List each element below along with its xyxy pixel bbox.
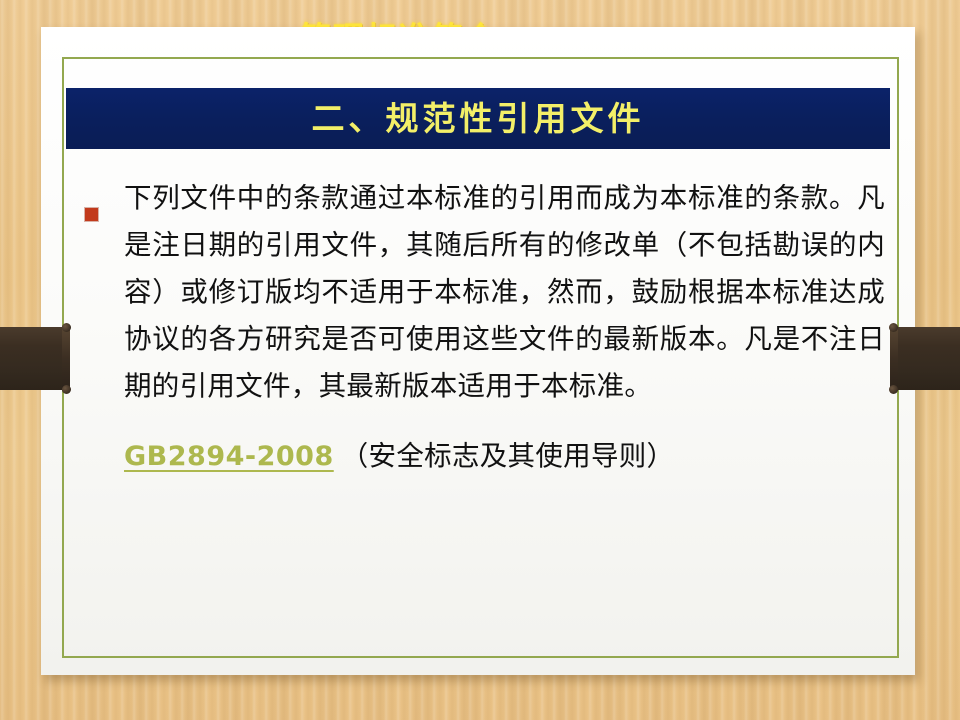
banner-title: 二、规范性引用文件	[312, 102, 645, 135]
slide-card: 二、规范性引用文件 下列文件中的条款通过本标准的引用而成为本标准的条款。凡是注日…	[41, 27, 915, 675]
clamp-knob-left-bottom	[62, 385, 71, 394]
bullet-square-icon	[85, 208, 98, 221]
slide-stage: 管理标准简介 二、规范性引用文件 下列文件中的条款通过本标准的引用而成为本标准的…	[0, 0, 960, 720]
bullet-paragraph: 下列文件中的条款通过本标准的引用而成为本标准的条款。凡是注日期的引用文件，其随后…	[85, 175, 885, 410]
reference-standard-link[interactable]: GB2894-2008	[124, 441, 334, 472]
decorative-clamp-left	[0, 327, 70, 390]
body-content: 下列文件中的条款通过本标准的引用而成为本标准的条款。凡是注日期的引用文件，其随后…	[85, 175, 885, 473]
title-banner: 二、规范性引用文件	[66, 88, 890, 149]
reference-line: GB2894-2008（安全标志及其使用导则）	[124, 433, 885, 473]
decorative-clamp-right	[890, 327, 960, 390]
reference-standard-note: （安全标志及其使用导则）	[341, 440, 675, 472]
clamp-knob-right-bottom	[889, 385, 898, 394]
bullet-paragraph-text: 下列文件中的条款通过本标准的引用而成为本标准的条款。凡是注日期的引用文件，其随后…	[124, 175, 885, 410]
clamp-knob-right-top	[889, 323, 898, 332]
clamp-cap-left	[62, 324, 70, 393]
clamp-knob-left-top	[62, 323, 71, 332]
clamp-cap-right	[890, 324, 898, 393]
